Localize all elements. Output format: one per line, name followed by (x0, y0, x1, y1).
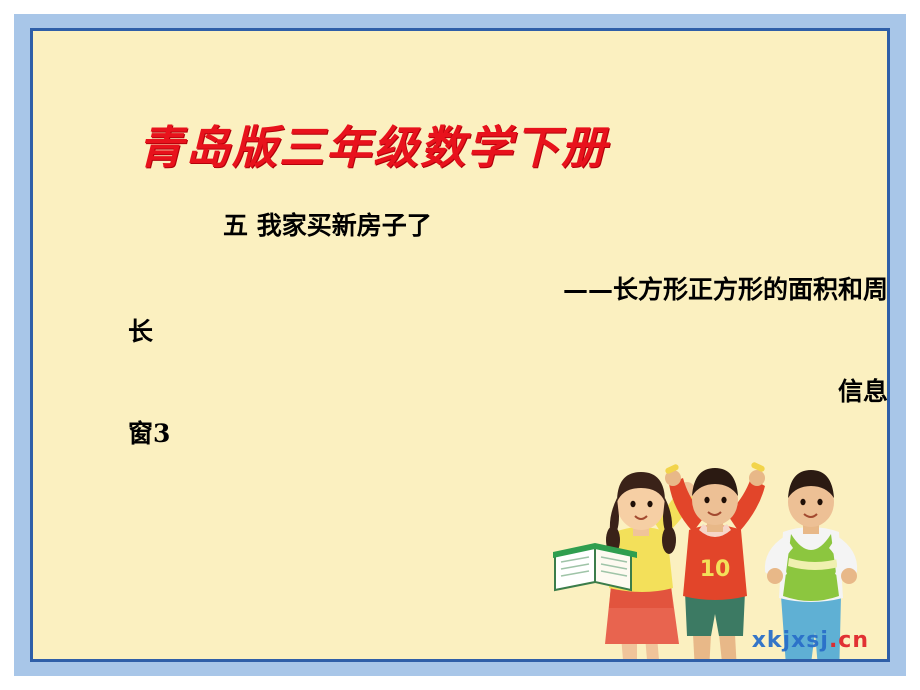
open-book (553, 543, 637, 590)
topic-line-wrap: 长 (128, 311, 887, 353)
page-title: 青岛版三年级数学下册 (138, 111, 858, 176)
slide-content: 青岛版三年级数学下册 五 我家买新房子了 ——长方形正方形的面积和周 长 信息 … (33, 31, 887, 659)
info-window-text: 信息 (838, 377, 887, 406)
watermark-text: xkjxsj (752, 628, 829, 653)
boy-in-red-jersey: 10 (664, 461, 765, 659)
topic-line-text: ——长方形正方形的面积和周 (563, 275, 887, 304)
unit-subtitle: 五 我家买新房子了 (223, 206, 432, 242)
topic-line: ——长方形正方形的面积和周 长 (128, 269, 887, 353)
three-children-illustration: 10 (503, 436, 887, 659)
watermark-suffix: .cn (829, 628, 869, 653)
svg-text:10: 10 (700, 557, 731, 582)
watermark: xkjxsj.cn (752, 628, 869, 653)
slide-root: 青岛版三年级数学下册 五 我家买新房子了 ——长方形正方形的面积和周 长 信息 … (0, 0, 920, 690)
